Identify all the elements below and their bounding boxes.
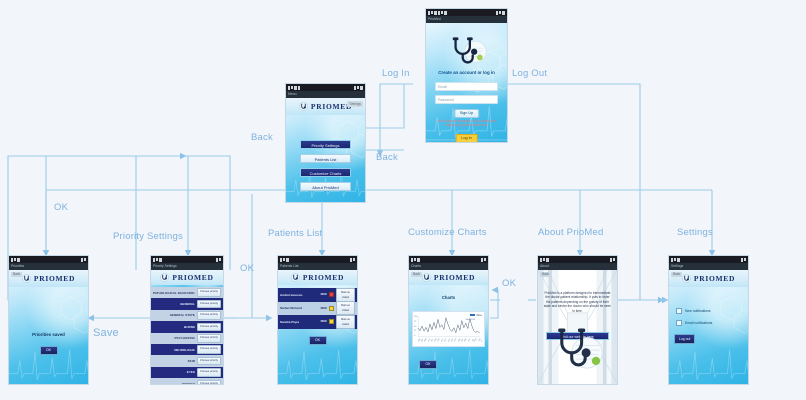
battery-icon: [610, 258, 612, 262]
wifi-icon: [674, 258, 676, 261]
checkbox[interactable]: [676, 320, 682, 326]
status-bar: [9, 256, 88, 263]
mark-as-visited-button[interactable]: Mark as visited: [336, 288, 355, 302]
screen-patients-list: Patients List PRIOMED: [277, 255, 358, 385]
choose-priority-button[interactable]: Choose priority: [197, 311, 221, 320]
ecg-waveform: [669, 341, 748, 384]
saved-message: Priorities saved: [9, 332, 88, 337]
risk-label: RISK: [321, 293, 327, 296]
checkbox-row-email-notifications[interactable]: Email notifications: [676, 320, 712, 326]
stethoscope-logo-icon: [682, 274, 691, 283]
status-bar: [669, 256, 748, 263]
screen-settings: Settings PRIOMED: [668, 255, 749, 385]
table-row[interactable]: GENERAL Choose priority: [151, 298, 223, 309]
battery-icon: [350, 258, 352, 262]
bluetooth-icon: [159, 258, 162, 262]
checkbox-label: New notifications: [685, 309, 711, 313]
choose-priority-button[interactable]: Choose priority: [197, 357, 221, 366]
priority-rows-list[interactable]: PATHOLOGICAL BACKGROUND Choose priority …: [151, 287, 223, 384]
signal-icon: [288, 86, 290, 90]
row-label: THORAX: [153, 382, 195, 384]
choose-priority-button[interactable]: Choose priority: [197, 300, 221, 309]
screen-menu: Menu PRIOMED: [285, 83, 366, 203]
login-note: If you have an account or if you have no…: [432, 119, 501, 128]
table-row[interactable]: PATHOLOGICAL BACKGROUND Choose priority: [151, 287, 223, 298]
sync-icon: [438, 11, 440, 15]
row-label: PSYCHIATRIC: [153, 336, 195, 340]
ok-button[interactable]: OK: [40, 346, 58, 355]
x-axis-ticks: JanFebMarAprMayJunJulAugSepOctNovDecJanF…: [418, 337, 482, 345]
clock-icon: [84, 258, 86, 261]
ecg-waveform: [278, 341, 357, 384]
edge-label-settings: Settings: [677, 227, 713, 238]
bluetooth-icon: [286, 258, 289, 262]
email-field[interactable]: Email: [435, 82, 498, 91]
signal-icon: [540, 258, 542, 262]
table-row[interactable]: THORAX Choose priority: [151, 378, 223, 384]
edge-label-priority-settings: Priority Settings: [113, 231, 183, 242]
battery-icon: [81, 258, 83, 262]
screen-about: About Back PrioMed is a platform designe…: [537, 255, 618, 385]
choose-priority-button[interactable]: Choose priority: [197, 380, 221, 384]
sign-up-button[interactable]: Sign Up: [454, 109, 480, 118]
patient-name: Andrei Ionescu: [280, 293, 319, 297]
wifi-icon: [431, 11, 433, 14]
stethoscope-logo-icon: [445, 36, 489, 66]
wifi-icon: [291, 86, 293, 89]
checkbox-row-new-notifications[interactable]: New notifications: [676, 308, 711, 314]
row-label: EYES: [153, 370, 195, 374]
edge-label-ok-left: OK: [54, 202, 68, 213]
message-icon: [444, 11, 447, 15]
status-bar: [278, 256, 357, 263]
patients-rows-list[interactable]: Andrei Ionescu RISK Mark as visited Stef…: [278, 288, 357, 329]
row-label: PATHOLOGICAL BACKGROUND: [153, 291, 195, 295]
table-row[interactable]: SKIN Choose priority: [151, 355, 223, 366]
brand-bar: PRIOMED: [278, 270, 357, 285]
stethoscope-logo-icon: [291, 273, 300, 282]
battery-icon: [741, 258, 743, 262]
bluetooth-icon: [434, 11, 437, 15]
signal-icon: [280, 258, 282, 262]
charts-title: Charts: [409, 295, 488, 300]
window-title: Priority Settings: [151, 263, 223, 270]
battery-icon: [357, 86, 359, 89]
clock-icon: [353, 258, 355, 261]
sync-icon: [298, 86, 300, 90]
line-chart[interactable]: Value 100 75 50 25 0 Mar 2016 JanFebMarA…: [412, 311, 485, 347]
menu-item-priority-settings[interactable]: Priority Settings: [300, 140, 351, 149]
brand-name: PRIOMED: [694, 274, 735, 283]
risk-indicator: [329, 319, 334, 324]
stethoscope-logo-icon: [551, 325, 605, 377]
table-row[interactable]: PSYCHIATRIC Choose priority: [151, 333, 223, 344]
back-chip[interactable]: Back: [11, 272, 22, 277]
login-heading: Create an account or log in: [426, 70, 507, 76]
screen-priorities-saved: Priorities PRIOMED: [8, 255, 89, 385]
risk-label: RISK: [321, 307, 327, 310]
window-title: Menu: [286, 91, 365, 98]
clock-icon: [744, 258, 746, 261]
clock-icon: [484, 258, 486, 261]
choose-priority-button[interactable]: Choose priority: [197, 323, 221, 332]
battery-icon: [216, 258, 218, 262]
signal-icon: [671, 258, 673, 262]
wifi-icon: [156, 258, 158, 261]
brand-name: PRIOMED: [311, 102, 352, 111]
window-title: Settings: [669, 263, 748, 270]
risk-indicator: [329, 306, 334, 311]
window-title: Charts: [409, 263, 488, 270]
choose-priority-button[interactable]: Choose priority: [197, 288, 221, 297]
row-label: SKIN: [153, 359, 195, 363]
stethoscope-logo-icon: [422, 273, 431, 282]
window-title: About: [538, 263, 617, 270]
back-chip[interactable]: Back: [540, 272, 551, 277]
row-label: BURNS: [153, 325, 195, 329]
brand-name: PRIOMED: [172, 273, 213, 282]
status-bar: [426, 9, 507, 16]
table-row[interactable]: NEUROLOGIC Choose priority: [151, 344, 223, 355]
password-field[interactable]: Password: [435, 95, 498, 104]
window-title: Patients List: [278, 263, 357, 270]
risk-label: RISK: [321, 320, 327, 323]
flow-diagram-canvas: Log In Log Out Back Back OK Priority Set…: [0, 0, 806, 400]
checkbox[interactable]: [676, 308, 682, 314]
ok-button[interactable]: OK: [309, 336, 327, 345]
bluetooth-icon: [677, 258, 680, 262]
signal-icon: [153, 258, 155, 262]
about-description: PrioMed is a platform designed to interm…: [543, 291, 612, 313]
status-bar: [409, 256, 488, 263]
screen-login: PrioMed: [425, 8, 508, 143]
edge-label-log-in: Log In: [382, 68, 410, 79]
choose-priority-button[interactable]: Choose priority: [197, 345, 221, 354]
edge-label-customize-charts: Customize Charts: [408, 227, 487, 238]
table-row[interactable]: BURNS Choose priority: [151, 321, 223, 332]
log-out-button[interactable]: Log out: [674, 334, 695, 344]
window-title: Priorities: [9, 263, 88, 270]
menu-item-patients-list[interactable]: Patients List: [300, 154, 351, 163]
choose-priority-button[interactable]: Choose priority: [197, 368, 221, 377]
risk-indicator: [329, 292, 334, 297]
alarm-icon: [441, 11, 443, 14]
stethoscope-logo-icon: [22, 274, 31, 283]
edge-label-ok-charts: OK: [502, 278, 516, 289]
row-label: GENERAL: [153, 302, 195, 306]
status-bar: [538, 256, 617, 263]
stethoscope-logo-icon: [160, 273, 169, 282]
battery-icon: [481, 258, 483, 262]
back-chip[interactable]: Back: [671, 272, 682, 277]
signal-icon: [411, 258, 413, 262]
edge-label-ok-mid: OK: [240, 263, 254, 274]
checkbox-label: Email notifications: [685, 321, 712, 325]
mark-as-visited-button[interactable]: Mark as visited: [336, 301, 355, 315]
chart-annotation: Mar 2016: [466, 319, 475, 322]
bluetooth-icon: [546, 258, 549, 262]
stethoscope-logo-icon: [299, 102, 308, 111]
log-in-button[interactable]: Log In: [455, 134, 478, 142]
edge-label-log-out: Log Out: [512, 68, 547, 79]
menu-item-about-priomed[interactable]: About PrioMed: [300, 182, 351, 191]
wifi-icon: [543, 258, 545, 261]
patient-name: Sandra Popa: [280, 320, 319, 324]
mark-as-visited-button[interactable]: Mark as visited: [336, 315, 355, 329]
brand-name: PRIOMED: [303, 273, 344, 282]
ok-button[interactable]: OK: [419, 360, 437, 369]
clock-icon: [219, 258, 221, 261]
battery-icon: [499, 11, 501, 14]
edge-label-save: Save: [93, 327, 119, 339]
edge-label-back-left: Back: [251, 132, 273, 143]
signal-icon: [428, 11, 430, 15]
signal-icon: [11, 258, 13, 262]
bluetooth-icon: [417, 258, 420, 262]
settings-chip[interactable]: Settings: [347, 101, 363, 107]
network-icon: [354, 86, 356, 90]
back-chip[interactable]: Back: [411, 272, 422, 277]
window-title: PrioMed: [426, 16, 507, 23]
brand-name: PRIOMED: [34, 274, 75, 283]
choose-priority-button[interactable]: Choose priority: [197, 334, 221, 343]
screen-charts: Charts PRIOMED Back Charts: [408, 255, 489, 385]
brand-bar: PRIOMED: [151, 270, 223, 285]
list-item[interactable]: Stefan Richard RISK Mark as visited: [278, 302, 357, 316]
patient-name: Stefan Richard: [280, 306, 319, 310]
edge-label-about-priomed: About PrioMed: [538, 227, 603, 238]
menu-item-customize-charts[interactable]: Customize Charts: [300, 168, 351, 177]
edge-label-back-right: Back: [376, 152, 398, 163]
clock-icon: [613, 258, 615, 261]
bluetooth-icon: [17, 258, 20, 262]
table-row[interactable]: EYES Choose priority: [151, 367, 223, 378]
bluetooth-icon: [294, 86, 297, 90]
list-item[interactable]: Andrei Ionescu RISK Mark as visited: [278, 288, 357, 302]
list-item[interactable]: Sandra Popa RISK Mark as visited: [278, 315, 357, 329]
wifi-icon: [414, 258, 416, 261]
screen-priority-settings: Priority Settings PRIOMED PATHOLOGICAL B…: [150, 255, 224, 385]
hexagon-pattern: [709, 286, 749, 345]
row-label: NEUROLOGIC: [153, 348, 195, 352]
row-label: GENERAL STATE: [153, 313, 195, 317]
network-icon: [496, 11, 498, 15]
status-bar: [151, 256, 223, 263]
clock-icon: [502, 11, 505, 15]
wifi-icon: [14, 258, 16, 261]
wifi-icon: [283, 258, 285, 261]
brand-name: PRIOMED: [434, 273, 475, 282]
clock-icon: [360, 86, 363, 90]
table-row[interactable]: GENERAL STATE Choose priority: [151, 310, 223, 321]
status-bar: [286, 84, 365, 91]
edge-label-patients-list: Patients List: [268, 228, 322, 239]
